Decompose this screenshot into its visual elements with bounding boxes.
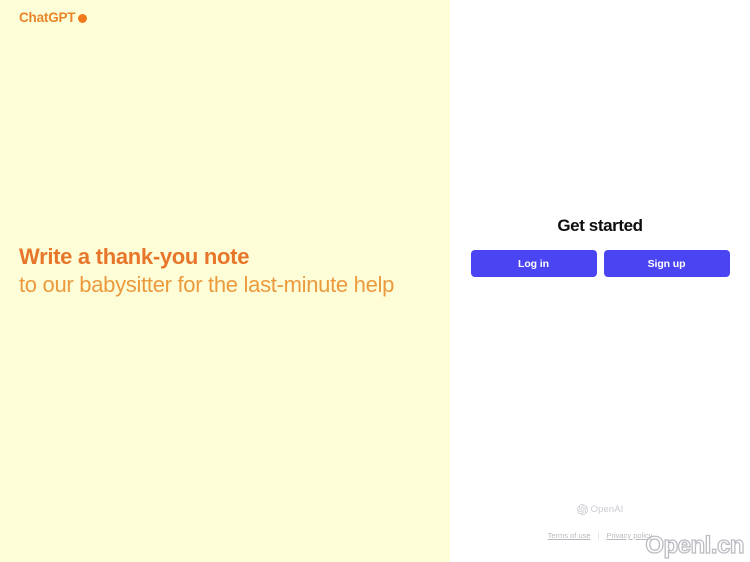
prompt-headline: Write a thank-you note to our babysitter… [19,243,419,299]
auth-button-group: Log in Sign up [471,250,730,277]
footer-links: Terms of use | Privacy policy [548,531,653,540]
signup-button[interactable]: Sign up [604,250,730,277]
footer-separator: | [598,531,600,540]
openai-brand-label: OpenAI [591,504,624,515]
openai-knot-icon [577,504,588,515]
orange-dot-icon [78,14,87,23]
prompt-headline-rest: to our babysitter for the last-minute he… [19,271,419,299]
openai-brand: OpenAI [577,504,624,515]
login-button[interactable]: Log in [471,250,597,277]
page-root: ChatGPT Write a thank-you note to our ba… [0,0,750,562]
privacy-policy-link[interactable]: Privacy policy [607,531,653,540]
get-started-block: Get started Log in Sign up [450,216,750,277]
terms-of-use-link[interactable]: Terms of use [548,531,591,540]
chatgpt-brand-label: ChatGPT [19,11,75,25]
auth-panel: Get started Log in Sign up OpenAI Terms … [450,0,750,562]
prompt-panel: ChatGPT Write a thank-you note to our ba… [0,0,450,562]
page-title: Get started [557,216,642,236]
prompt-headline-bold: Write a thank-you note [19,243,419,271]
footer: OpenAI Terms of use | Privacy policy [450,504,750,540]
chatgpt-brand: ChatGPT [19,11,87,25]
